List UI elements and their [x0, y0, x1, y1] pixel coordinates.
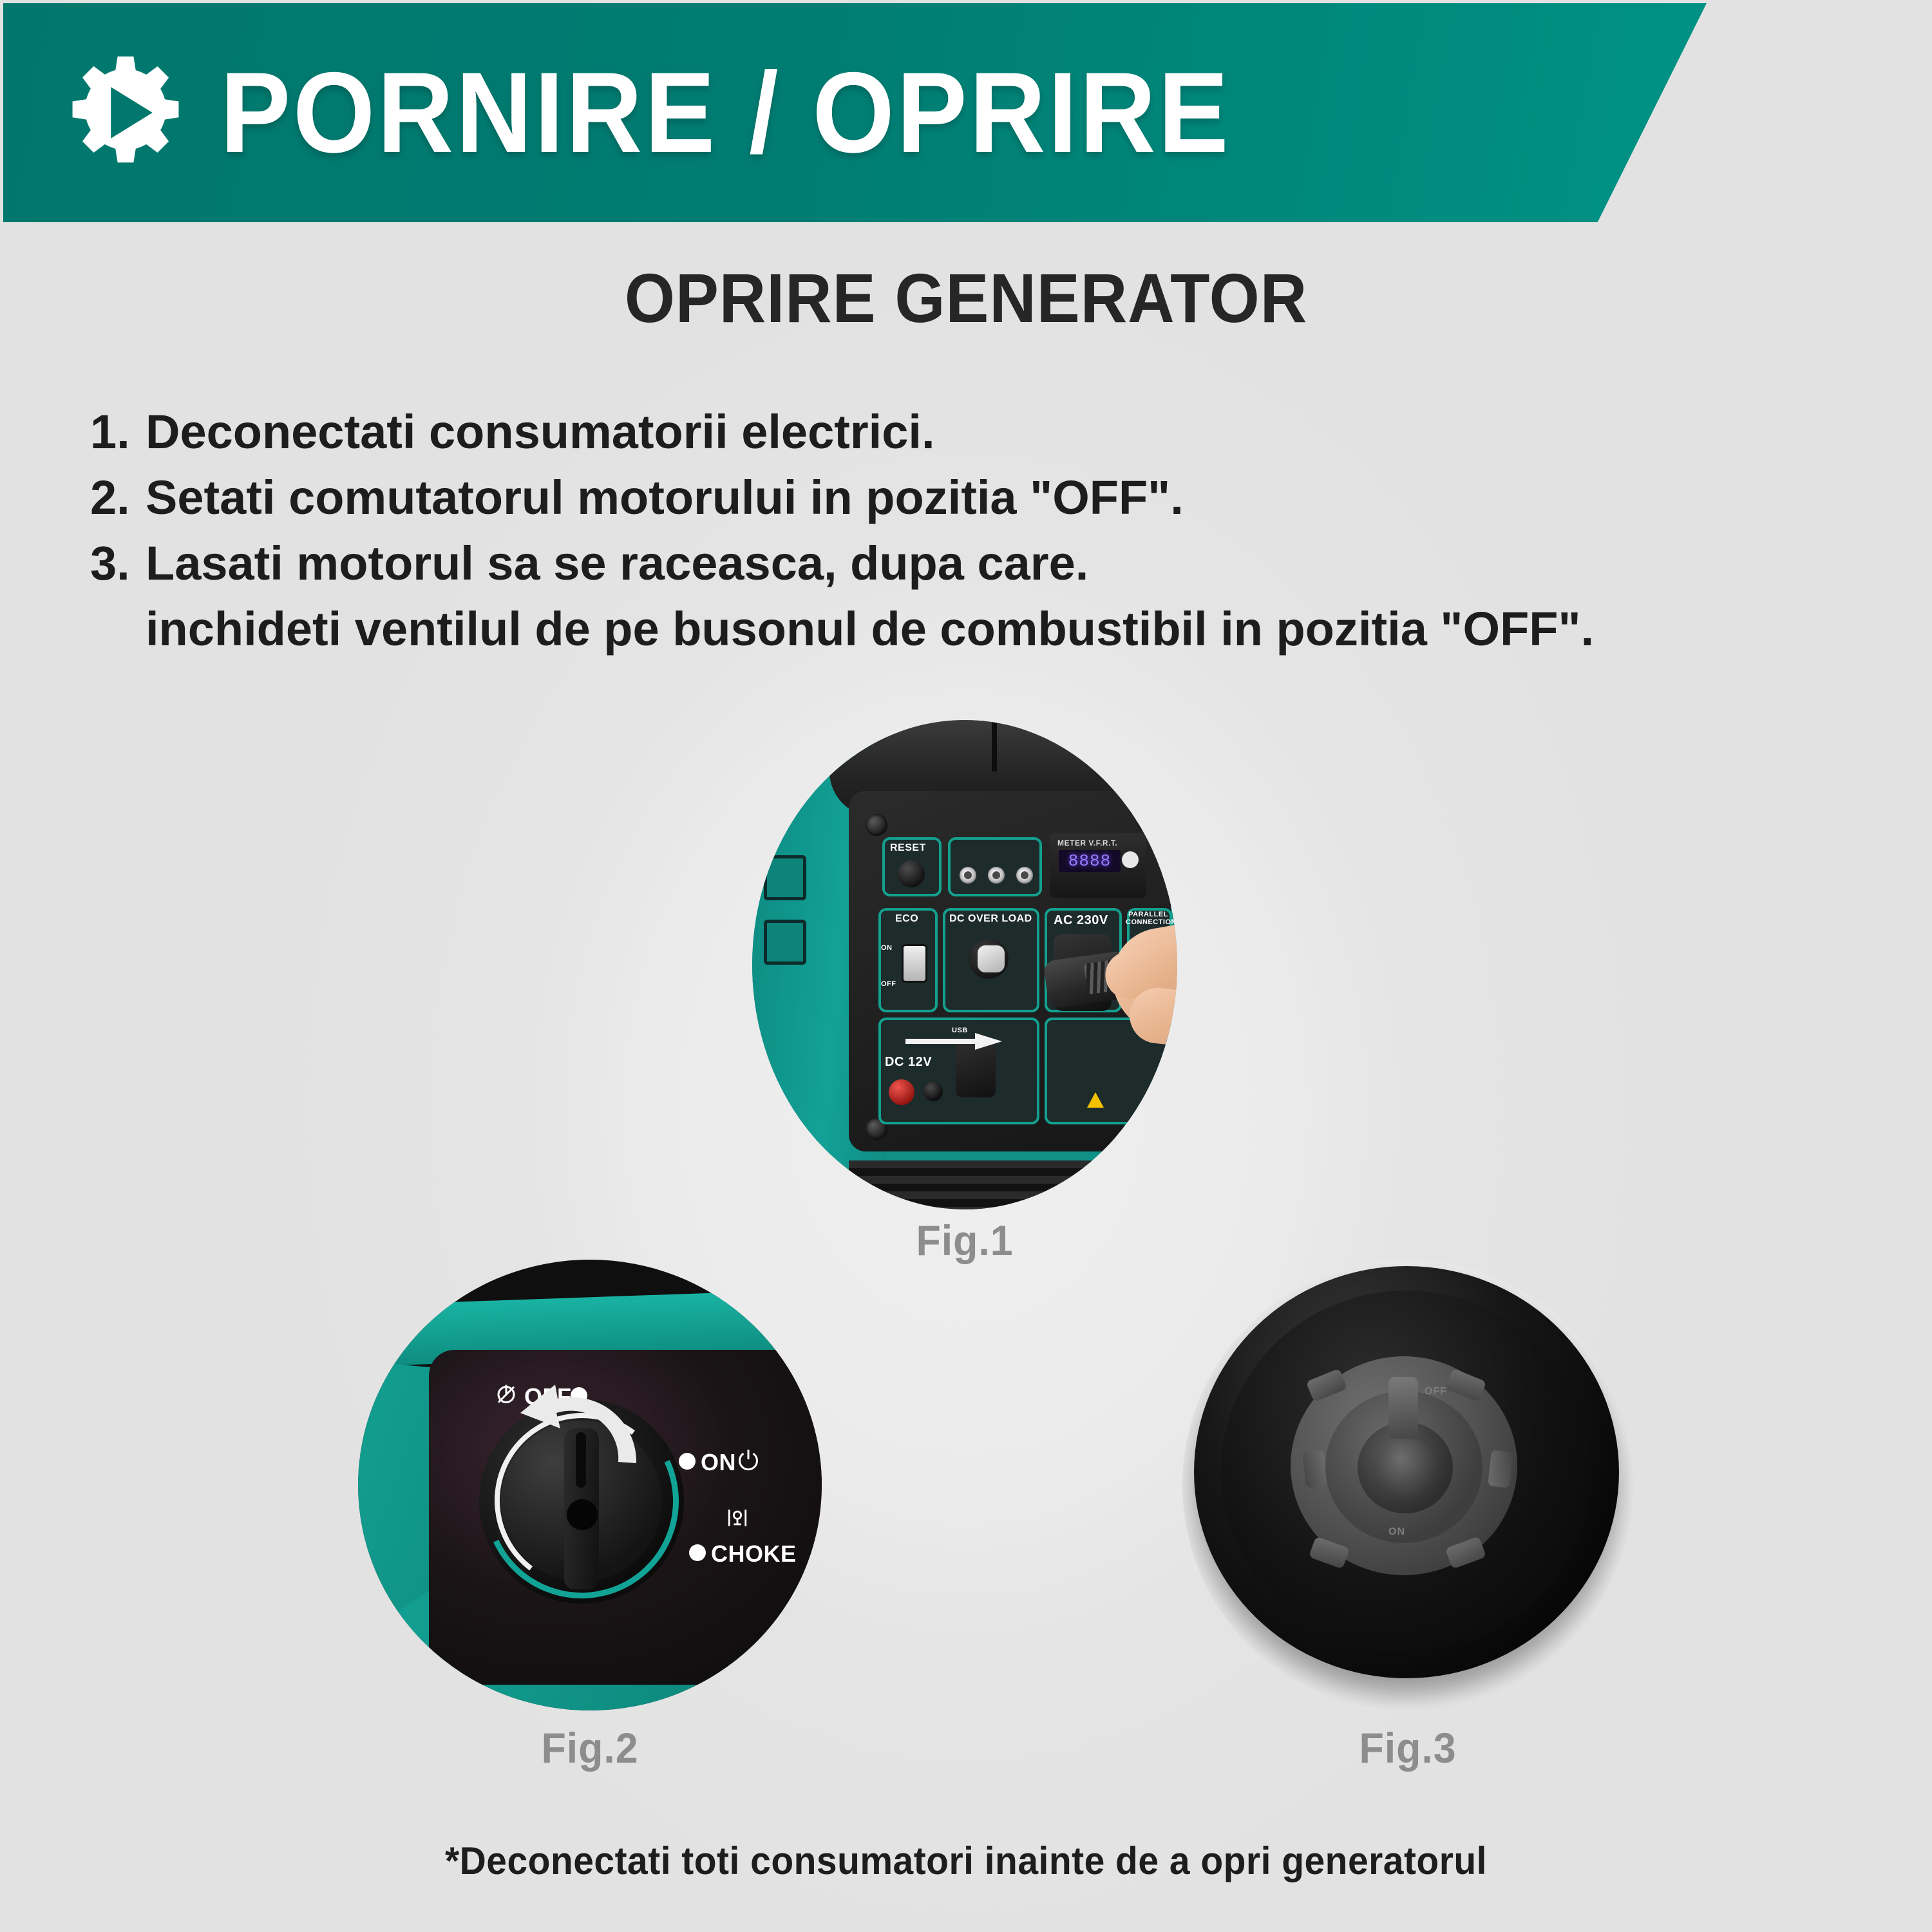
list-item-number: 2. — [90, 465, 146, 531]
dc-terminal-negative[interactable] — [923, 1082, 943, 1101]
figure-1-image: RESET METER V.F.R.T. 8888 ECO ON OFF DC … — [752, 720, 1177, 1209]
dc-terminal-positive[interactable] — [889, 1079, 914, 1105]
figure-3-caption: Fig.3 — [1194, 1723, 1622, 1772]
list-item: 1. Deconectati consumatorii electrici. — [90, 399, 1829, 465]
eco-switch[interactable] — [902, 944, 927, 983]
meter-readout: 8888 — [1059, 850, 1121, 872]
unplug-arrow-icon — [905, 1033, 1002, 1050]
figure-2-image: OFF ON CHOKE — [358, 1260, 822, 1710]
footer-note: *Deconectati toti consumatori inainte de… — [48, 1839, 1884, 1883]
figure-2-caption: Fig.2 — [370, 1723, 810, 1772]
rotate-to-off-arrow-icon — [510, 1381, 652, 1471]
list-item-number — [90, 596, 146, 662]
panel-label-ac230v: AC 230V — [1054, 913, 1108, 928]
panel-label-meter: METER V.F.R.T. — [1057, 838, 1117, 848]
meter-mode-button[interactable] — [1122, 851, 1139, 868]
section-heading: OPRIRE GENERATOR — [68, 258, 1864, 338]
list-item-text: inchideti ventilul de pe busonul de comb… — [146, 596, 1594, 662]
list-item: 2. Setati comutatorul motorului in pozit… — [90, 465, 1829, 531]
figure-1-caption: Fig.1 — [763, 1216, 1167, 1265]
switch-label-on: ON — [701, 1449, 736, 1476]
figure-3-image: OFF ON — [1182, 1260, 1633, 1710]
panel-label-dc-overload: DC OVER LOAD — [949, 913, 1032, 925]
panel-label-parallel: PARALLEL CONNECTION — [1126, 911, 1171, 926]
list-item-text: Deconectati consumatorii electrici. — [146, 399, 935, 465]
instruction-list: 1. Deconectati consumatorii electrici. 2… — [90, 399, 1829, 662]
list-item-text: Setati comutatorul motorului in pozitia … — [146, 465, 1184, 531]
switch-dot-choke — [689, 1544, 706, 1561]
list-item-text: Lasati motorul sa se raceasca, dupa care… — [146, 531, 1088, 596]
page-title: PORNIRE / OPRIRE — [220, 55, 1231, 170]
vent-label-off: OFF — [1425, 1386, 1447, 1397]
dc-overload-breaker[interactable] — [969, 939, 1009, 979]
header-banner: PORNIRE / OPRIRE — [3, 3, 1707, 222]
list-item: 3. Lasati motorul sa se raceasca, dupa c… — [90, 531, 1829, 596]
usb-port[interactable] — [956, 1042, 996, 1097]
list-item-number: 3. — [90, 531, 146, 596]
list-item-continuation: inchideti ventilul de pe busonul de comb… — [90, 596, 1829, 662]
warning-triangle-icon — [1087, 1092, 1104, 1108]
panel-label-eco: ECO — [895, 913, 918, 925]
power-on-icon — [737, 1448, 760, 1471]
vent-lever-tab[interactable] — [1388, 1377, 1418, 1439]
vent-label-on: ON — [1388, 1526, 1405, 1538]
gear-play-icon — [64, 52, 187, 174]
panel-label-reset: RESET — [890, 842, 926, 854]
panel-label-dc12v: DC 12V — [885, 1055, 932, 1070]
panel-label-eco-off: OFF — [881, 980, 896, 988]
choke-icon — [726, 1507, 748, 1529]
switch-label-choke: CHOKE — [711, 1540, 797, 1567]
switch-dot-on — [679, 1453, 696, 1470]
panel-label-eco-on: ON — [881, 944, 893, 952]
list-item-number: 1. — [90, 399, 146, 465]
